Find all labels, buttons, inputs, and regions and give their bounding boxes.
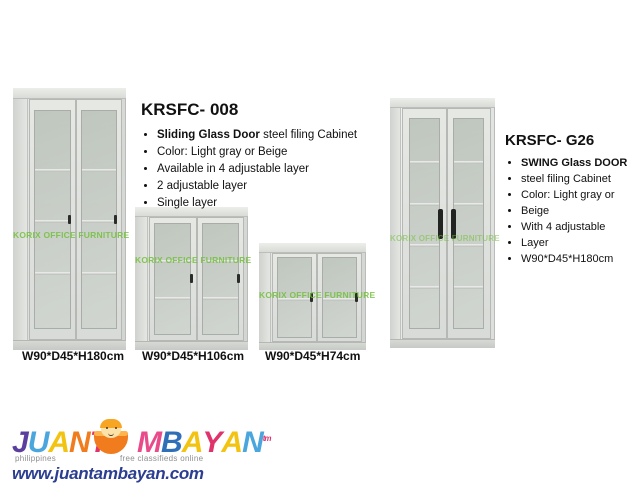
cabinet-top xyxy=(13,88,126,99)
door-glass xyxy=(277,257,312,337)
spec-list-left: Sliding Glass Door steel filing Cabinet … xyxy=(141,127,371,212)
product-title-right: KRSFC- G26 xyxy=(505,132,640,149)
logo-wordmark: JUANTMBAYANtm xyxy=(12,424,271,458)
logo-tagline-right: free classifieds online xyxy=(120,454,203,463)
cabinet-top xyxy=(390,98,495,108)
product-title-left: KRSFC- 008 xyxy=(141,100,371,120)
spec-item: Color: Light gray or Beige xyxy=(141,144,371,161)
door-glass xyxy=(202,223,239,335)
pot-mascot-icon xyxy=(94,420,128,454)
cabinet-sidewall xyxy=(13,88,28,350)
sliding-doors xyxy=(29,99,122,340)
door-handle xyxy=(114,215,117,224)
spec-text: Beige xyxy=(521,205,549,217)
spec-block-krsfc-g26: KRSFC- G26 SWING Glass DOOR steel filing… xyxy=(505,132,640,267)
spec-item: 2 adjustable layer xyxy=(141,178,371,195)
sliding-doors xyxy=(272,253,362,342)
spec-item: SWING Glass DOOR xyxy=(505,155,640,171)
swing-doors xyxy=(402,108,491,339)
spec-text: Single layer xyxy=(157,197,217,209)
spec-item: Available in 4 adjustable layer xyxy=(141,161,371,178)
door-handle xyxy=(68,215,71,224)
sliding-door-left xyxy=(29,99,76,340)
cabinet-top xyxy=(259,243,366,253)
spec-text: Color: Light gray or xyxy=(521,189,615,201)
door-glass xyxy=(409,118,440,329)
logo-website-url: www.juantambayan.com xyxy=(12,464,204,484)
spec-text: Layer xyxy=(521,237,549,249)
spec-text: Available in 4 adjustable layer xyxy=(157,163,309,175)
sliding-door-right xyxy=(317,253,362,342)
dimension-label-74: W90*D45*H74cm xyxy=(265,349,360,363)
door-handle xyxy=(310,293,313,302)
spec-item: Sliding Glass Door steel filing Cabinet xyxy=(141,127,371,144)
spec-bold: SWING Glass DOOR xyxy=(521,157,627,169)
door-glass xyxy=(322,257,357,337)
spec-text: 2 adjustable layer xyxy=(157,180,247,192)
logo-letter-n1: N xyxy=(69,428,90,458)
spec-item: Color: Light gray or xyxy=(505,187,640,203)
spec-list-right: SWING Glass DOOR steel filing Cabinet Co… xyxy=(505,155,640,267)
spec-block-krsfc008: KRSFC- 008 Sliding Glass Door steel fili… xyxy=(141,100,371,212)
pot-hair xyxy=(100,419,122,428)
spec-item: Layer xyxy=(505,235,640,251)
cabinet-sidewall xyxy=(259,243,271,350)
sliding-door-left xyxy=(272,253,317,342)
swing-door-handle xyxy=(451,209,456,239)
door-glass xyxy=(453,118,484,329)
cabinet-image-krsfc008-106: KORIX OFFICE FURNITURE xyxy=(135,207,248,350)
cabinet-image-krsfc-g26: KORIX OFFICE FURNITURE xyxy=(390,98,495,348)
logo-letter-y: Y xyxy=(202,428,221,458)
cabinet-base xyxy=(390,339,495,348)
spec-text: W90*D45*H180cm xyxy=(521,253,613,265)
product-sheet: KORIX OFFICE FURNITURE xyxy=(0,0,640,480)
swing-door-left xyxy=(402,108,447,339)
dimension-label-106: W90*D45*H106cm xyxy=(142,349,244,363)
cabinet-sidewall xyxy=(135,207,148,350)
sliding-door-right xyxy=(76,99,123,340)
sliding-door-left xyxy=(149,217,197,341)
pot-eye-right xyxy=(115,427,117,429)
door-glass xyxy=(81,110,118,330)
cabinet-image-krsfc008-74: KORIX OFFICE FURNITURE xyxy=(259,243,366,350)
spec-item: With 4 adjustable xyxy=(505,219,640,235)
spec-item: Single layer xyxy=(141,195,371,212)
spec-item: steel filing Cabinet xyxy=(505,171,640,187)
logo-letter-a3: A xyxy=(221,428,242,458)
swing-door-right xyxy=(447,108,492,339)
spec-text: With 4 adjustable xyxy=(521,221,605,233)
pot-eye-left xyxy=(106,427,108,429)
cabinet-image-krsfc008-180: KORIX OFFICE FURNITURE xyxy=(13,88,126,350)
spec-item: Beige xyxy=(505,203,640,219)
door-handle xyxy=(237,274,240,283)
sliding-door-right xyxy=(197,217,245,341)
dimension-label-180: W90*D45*H180cm xyxy=(22,349,124,363)
spec-text: steel filing Cabinet xyxy=(260,129,357,141)
door-handle xyxy=(190,274,193,283)
sliding-doors xyxy=(149,217,244,341)
door-glass xyxy=(34,110,71,330)
logo-trademark: tm xyxy=(263,424,271,454)
cabinet-sidewall xyxy=(390,98,401,348)
spec-text: steel filing Cabinet xyxy=(521,173,611,185)
logo-letter-n2: N xyxy=(242,428,263,458)
juantambayan-logo: JUANTMBAYANtm philippines free classifie… xyxy=(12,424,227,476)
logo-tagline-left: philippines xyxy=(15,454,56,463)
spec-text: Color: Light gray or Beige xyxy=(157,146,287,158)
door-glass xyxy=(154,223,191,335)
spec-item: W90*D45*H180cm xyxy=(505,251,640,267)
swing-door-handle xyxy=(438,209,443,239)
door-handle xyxy=(355,293,358,302)
spec-bold: Sliding Glass Door xyxy=(157,129,260,141)
